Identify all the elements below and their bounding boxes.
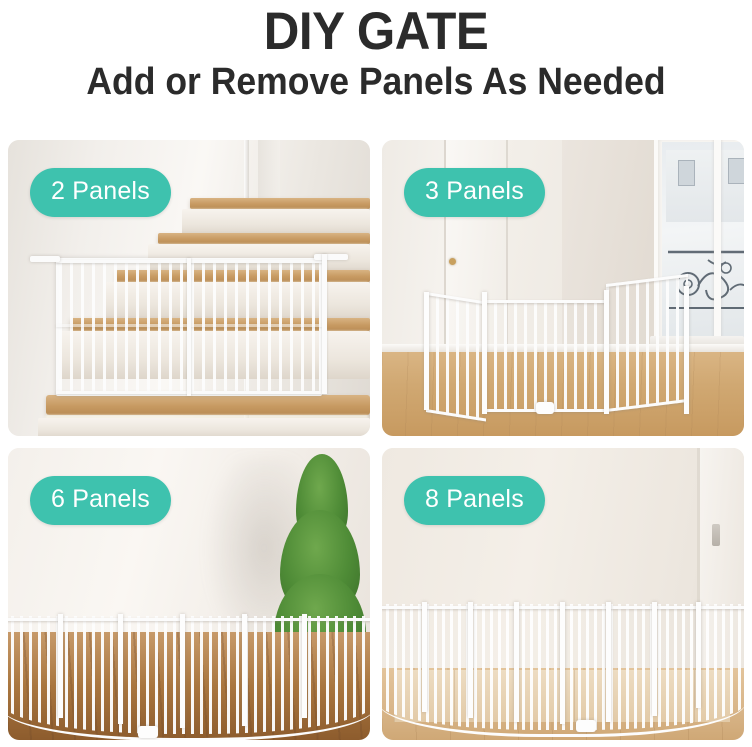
- gate-3-panels: [426, 284, 686, 414]
- gate-end-post-left: [424, 292, 429, 410]
- gate-8-panels: [382, 604, 744, 740]
- gate-hinge-4: [242, 614, 247, 726]
- gate-hinge-left: [482, 292, 487, 414]
- gate-end-post-right: [684, 286, 689, 414]
- gate-hinge-5: [302, 614, 307, 718]
- gate-mount-arm-left: [30, 256, 60, 262]
- gate-hinge-right: [604, 290, 609, 414]
- stair-riser-bottom: [38, 418, 370, 436]
- header: DIY GATE Add or Remove Panels As Needed: [0, 0, 752, 104]
- gate-hinge-5: [606, 602, 611, 722]
- gate-latch[interactable]: [576, 720, 596, 732]
- badge-6-panels: 6 Panels: [30, 476, 171, 525]
- gate-latch[interactable]: [138, 726, 158, 738]
- card-3-panels[interactable]: 3 Panels: [382, 140, 744, 436]
- gate-hinge-3: [180, 614, 185, 728]
- panel-center-top-rail: [484, 300, 608, 303]
- gate-hinge-7: [696, 602, 701, 708]
- stair-riser-top: [182, 209, 370, 235]
- stair-tread-top: [190, 198, 370, 209]
- gate-hinge-6: [652, 602, 657, 716]
- gate-center-post: [187, 258, 191, 396]
- badge-3-panels: 3 Panels: [404, 168, 545, 217]
- card-6-panels[interactable]: 6 Panels: [8, 448, 370, 740]
- panel-configuration-grid: 2 Panels: [8, 140, 744, 740]
- card-2-panels[interactable]: 2 Panels: [8, 140, 370, 436]
- badge-2-panels: 2 Panels: [30, 168, 171, 217]
- gate-panel-right: [606, 274, 688, 412]
- page-subtitle: Add or Remove Panels As Needed: [24, 62, 727, 104]
- exterior-building: [666, 150, 744, 222]
- gate-panel-center: [484, 300, 608, 412]
- gate-latch[interactable]: [536, 402, 554, 414]
- badge-8-panels: 8 Panels: [404, 476, 545, 525]
- gate-6-panels: [8, 616, 370, 740]
- page-title: DIY GATE: [26, 4, 725, 60]
- gate-hinge-2: [118, 614, 123, 724]
- door-handle[interactable]: [712, 524, 720, 546]
- gate-mount-arm-right: [314, 254, 348, 260]
- gate-right-extension-post: [322, 254, 327, 394]
- card-8-panels[interactable]: 8 Panels: [382, 448, 744, 740]
- gate-hinge-2: [468, 602, 473, 718]
- gate-2-panels: [56, 258, 322, 396]
- stair-tread-2: [158, 233, 370, 244]
- exterior-window-1: [678, 160, 695, 186]
- window-mullion: [714, 140, 721, 364]
- panel-left-top-rail: [426, 292, 486, 305]
- door-knob: [449, 258, 456, 265]
- stair-tread-bottom: [46, 395, 370, 415]
- gate-hinge-3: [514, 602, 519, 722]
- panel-right-bottom-rail: [606, 399, 688, 412]
- gate-hinge-1: [58, 614, 63, 718]
- exterior-window-2: [728, 158, 744, 184]
- gate-hinge-4: [560, 602, 565, 724]
- gate-panel-left: [426, 292, 486, 422]
- gate-hinge-1: [422, 602, 427, 712]
